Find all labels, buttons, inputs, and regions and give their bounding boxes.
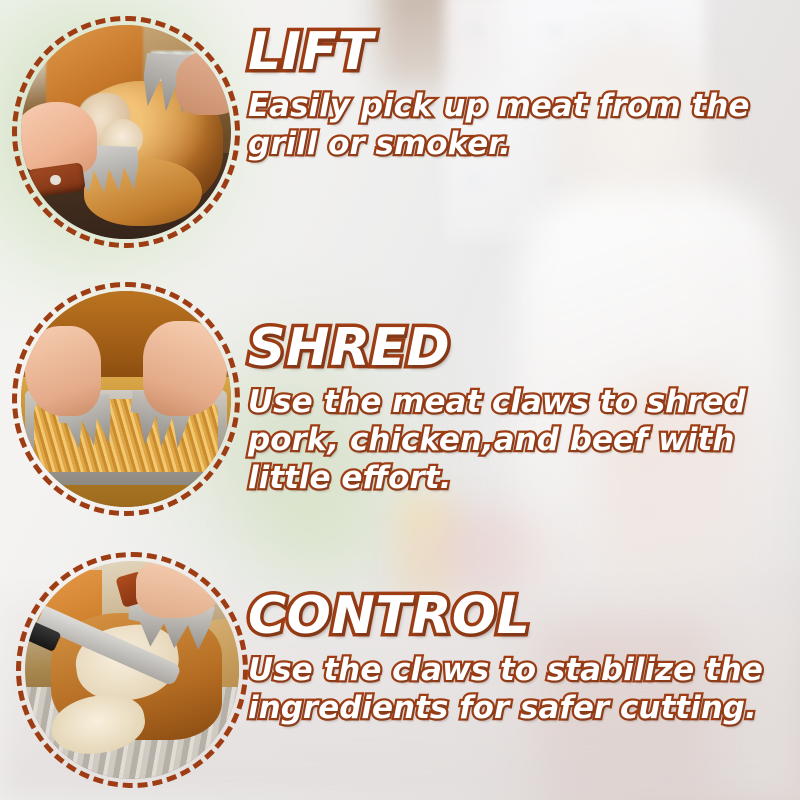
feature-body-lift: Easily pick up meat from the grill or sm…: [248, 88, 788, 164]
feature-section-shred: SHRED Use the meat claws to shred pork, …: [0, 280, 800, 530]
feature-body-line: Use the claws to stabilize the: [248, 652, 788, 690]
feature-headline-lift: LIFT: [248, 26, 788, 78]
dashed-circle-border-shred: [12, 282, 240, 516]
lifting-roast-chicken-photo: [12, 16, 240, 248]
feature-headline-control: CONTROL: [248, 590, 788, 642]
dashed-circle-border-lift: [12, 16, 240, 248]
feature-text-lift: LIFT Easily pick up meat from the grill …: [248, 26, 788, 164]
feature-body-line: grill or smoker.: [248, 126, 788, 164]
shredding-pulled-pork-photo: [12, 282, 240, 516]
dashed-circle-border-control: [16, 552, 248, 788]
feature-body-line: pork, chicken,and beef with: [248, 422, 788, 460]
feature-body-line: ingredients for safer cutting.: [248, 690, 788, 728]
feature-headline-shred: SHRED: [248, 322, 788, 374]
feature-section-lift: LIFT Easily pick up meat from the grill …: [0, 0, 800, 265]
feature-body-line: Easily pick up meat from the: [248, 88, 788, 126]
carving-turkey-breast-photo: [16, 552, 248, 788]
feature-text-shred: SHRED Use the meat claws to shred pork, …: [248, 322, 788, 497]
feature-body-line: little effort.: [248, 460, 788, 498]
feature-text-control: CONTROL Use the claws to stabilize the i…: [248, 590, 788, 728]
feature-body-shred: Use the meat claws to shred pork, chicke…: [248, 384, 788, 497]
feature-section-control: CONTROL Use the claws to stabilize the i…: [0, 548, 800, 800]
infographic-canvas: LIFT Easily pick up meat from the grill …: [0, 0, 800, 800]
feature-body-line: Use the meat claws to shred: [248, 384, 788, 422]
feature-body-control: Use the claws to stabilize the ingredien…: [248, 652, 788, 728]
